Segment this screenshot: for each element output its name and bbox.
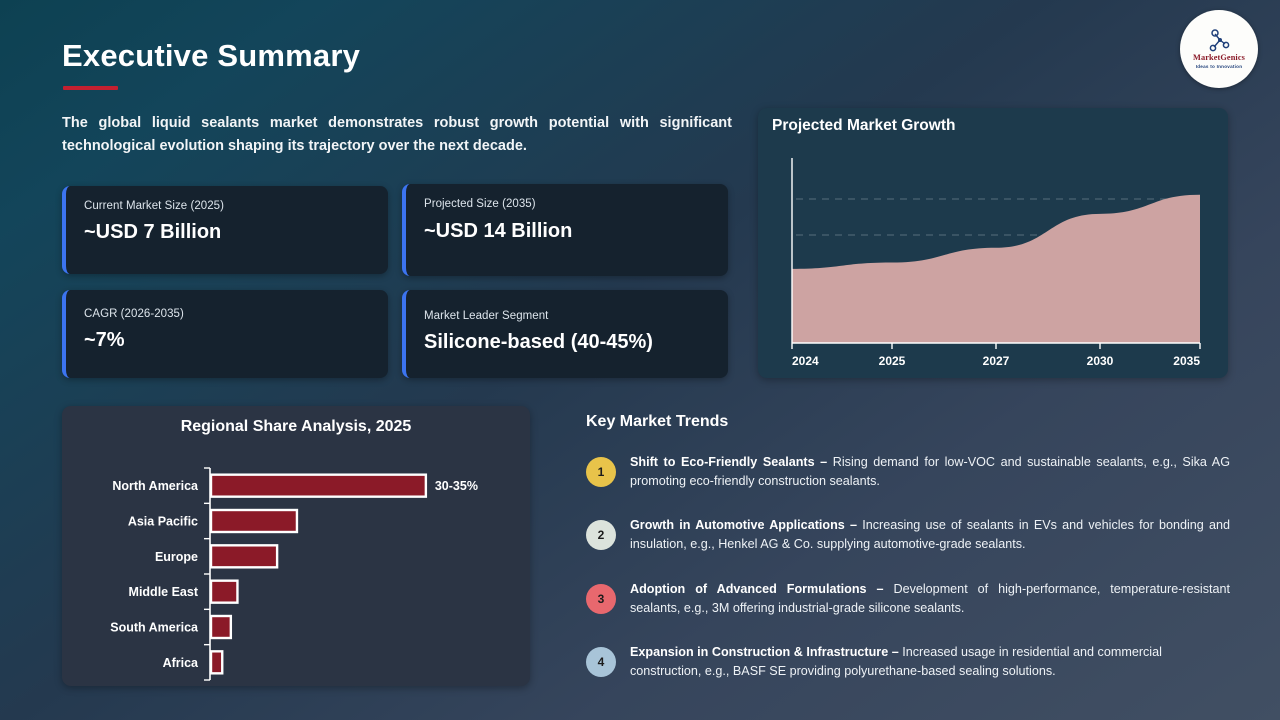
bar-category-label: North America: [112, 479, 199, 493]
bar: [211, 581, 237, 603]
metric-card-cagr: CAGR (2026-2035) ~7%: [62, 290, 388, 378]
trend-text: Adoption of Advanced Formulations – Deve…: [630, 574, 1230, 618]
metric-label: Market Leader Segment: [424, 304, 710, 322]
bar: [211, 651, 222, 673]
trend-headline: Growth in Automotive Applications –: [630, 518, 862, 532]
list-item: 4 Expansion in Construction & Infrastruc…: [586, 637, 1230, 681]
trends-section-title: Key Market Trends: [586, 413, 728, 431]
x-axis-tick-label: 2024: [792, 354, 819, 368]
trend-text: Shift to Eco-Friendly Sealants – Rising …: [630, 447, 1230, 491]
intro-paragraph: The global liquid sealants market demons…: [62, 112, 732, 159]
bar-category-label: Middle East: [129, 585, 199, 599]
metric-value: Silicone-based (40-45%): [424, 331, 710, 354]
logo-tagline: Ideas to Innovation: [1196, 64, 1243, 69]
metric-label: Projected Size (2035): [424, 198, 710, 210]
trend-text: Growth in Automotive Applications – Incr…: [630, 510, 1230, 554]
trend-headline: Expansion in Construction & Infrastructu…: [630, 645, 902, 659]
trends-list: 1 Shift to Eco-Friendly Sealants – Risin…: [586, 447, 1230, 699]
page-title: Executive Summary: [62, 38, 360, 74]
x-axis-tick-label: 2027: [983, 354, 1010, 368]
bar: [211, 475, 426, 497]
metric-label: CAGR (2026-2035): [84, 304, 370, 320]
metric-value: ~USD 14 Billion: [424, 220, 710, 243]
trend-number-badge: 4: [586, 647, 616, 677]
trend-number-badge: 3: [586, 584, 616, 614]
regional-share-analysis-chart: North America30-35%Asia PacificEuropeMid…: [62, 406, 530, 686]
projected-market-growth-panel: Projected Market Growth 2024202520272030…: [758, 108, 1228, 378]
metric-value: ~7%: [84, 329, 370, 352]
trend-number-badge: 1: [586, 457, 616, 487]
trend-number-badge: 2: [586, 520, 616, 550]
bar: [211, 616, 231, 638]
title-underline-accent: [63, 86, 118, 90]
regional-share-analysis-panel: Regional Share Analysis, 2025 North Amer…: [62, 406, 530, 686]
metric-label: Current Market Size (2025): [84, 200, 370, 212]
metric-value: ~USD 7 Billion: [84, 221, 370, 244]
bar-value-label: 30-35%: [435, 479, 478, 493]
company-logo: MarketGenics Ideas to Innovation: [1180, 10, 1258, 88]
trend-text: Expansion in Construction & Infrastructu…: [630, 637, 1230, 681]
bar: [211, 545, 277, 567]
metric-card-market-leader-segment: Market Leader Segment Silicone-based (40…: [402, 290, 728, 378]
list-item: 2 Growth in Automotive Applications – In…: [586, 510, 1230, 554]
bar-category-label: Africa: [163, 656, 199, 670]
bar-category-label: Europe: [155, 550, 198, 564]
projected-market-growth-chart: 20242025202720302035: [758, 108, 1228, 378]
x-axis-tick-label: 2035: [1173, 354, 1200, 368]
molecule-node-icon: [1206, 29, 1232, 53]
list-item: 1 Shift to Eco-Friendly Sealants – Risin…: [586, 447, 1230, 491]
trend-headline: Shift to Eco-Friendly Sealants –: [630, 455, 833, 469]
bar: [211, 510, 297, 532]
bar-category-label: South America: [110, 621, 199, 635]
metric-card-projected-size: Projected Size (2035) ~USD 14 Billion: [402, 184, 728, 276]
list-item: 3 Adoption of Advanced Formulations – De…: [586, 574, 1230, 618]
trend-headline: Adoption of Advanced Formulations –: [630, 582, 893, 596]
bar-category-label: Asia Pacific: [128, 515, 198, 529]
metric-card-current-market-size: Current Market Size (2025) ~USD 7 Billio…: [62, 186, 388, 274]
logo-brand-name: MarketGenics: [1193, 54, 1245, 62]
x-axis-tick-label: 2030: [1087, 354, 1114, 368]
x-axis-tick-label: 2025: [879, 354, 906, 368]
